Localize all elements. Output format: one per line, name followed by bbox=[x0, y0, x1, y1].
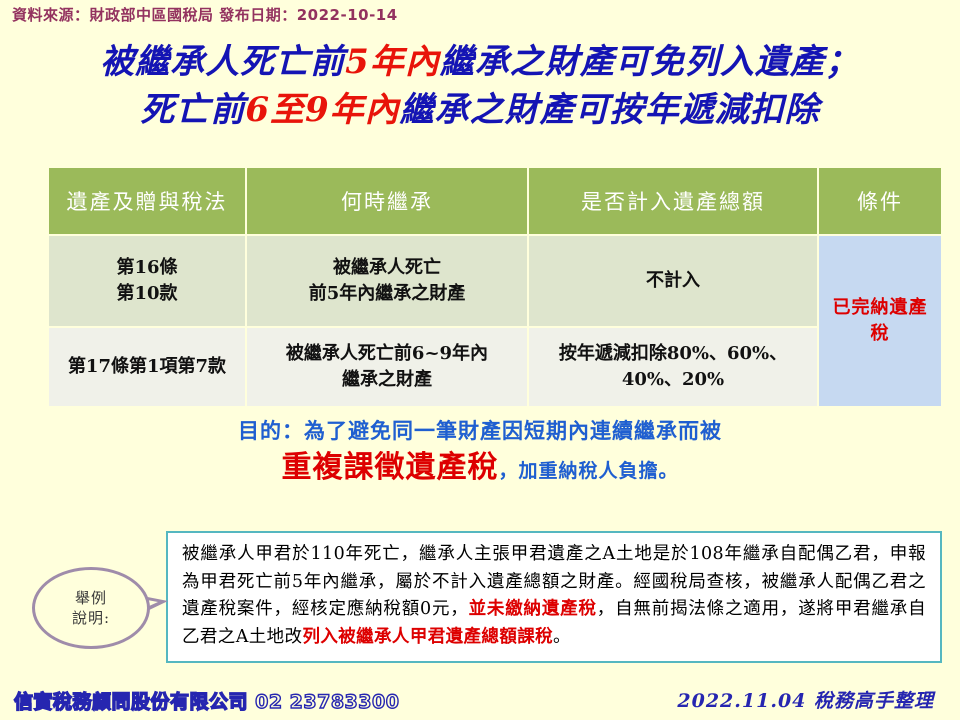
cell-when-row1: 被繼承人死亡 前5年內繼承之財產 bbox=[247, 236, 527, 326]
purpose-line-2-tail: ，加重納稅人負擔。 bbox=[498, 460, 678, 482]
inheritance-tax-table: 遺產及贈與稅法 何時繼承 是否計入遺產總額 條件 第16條 第10款 被繼承人死… bbox=[47, 166, 943, 408]
cell-law-row1-line2: 第10款 bbox=[55, 281, 239, 307]
cell-when-row2-line1: 被繼承人死亡前6~9年內 bbox=[253, 341, 521, 367]
callout-line-1: 舉例 bbox=[75, 588, 107, 608]
table-row: 第16條 第10款 被繼承人死亡 前5年內繼承之財產 不計入 已完納遺產稅 bbox=[49, 236, 941, 326]
cell-when-row1-line1: 被繼承人死亡 bbox=[253, 255, 521, 281]
table-header-when: 何時繼承 bbox=[247, 168, 527, 234]
title-line-2-post: 繼承之財產可按年遞減扣除 bbox=[400, 90, 820, 130]
example-paragraph: 被繼承人甲君於110年死亡，繼承人主張甲君遺產之A土地是於108年繼承自配偶乙君… bbox=[182, 541, 926, 652]
purpose-line-2: 重複課徵遺產稅，加重納稅人負擔。 bbox=[0, 451, 960, 484]
title-line-1: 被繼承人死亡前5年內繼承之財產可免列入遺產； bbox=[0, 38, 960, 86]
footer-date: 2022.11.04 稅務高手整理 bbox=[677, 686, 934, 713]
table-header-row: 遺產及贈與稅法 何時繼承 是否計入遺產總額 條件 bbox=[49, 168, 941, 234]
cell-include-row2: 按年遞減扣除80%、60%、 40%、20% bbox=[529, 328, 817, 406]
source-line: 資料來源：財政部中區國稅局 發布日期：2022-10-14 bbox=[12, 4, 398, 25]
cell-when-row1-line2: 前5年內繼承之財產 bbox=[253, 281, 521, 307]
title-line-1-highlight: 5年內 bbox=[345, 42, 440, 82]
footer-company: 信實稅務顧問股份有限公司 02 23783300 bbox=[14, 687, 399, 714]
table-header-include: 是否計入遺產總額 bbox=[529, 168, 817, 234]
cell-law-row2: 第17條第1項第7款 bbox=[49, 328, 245, 406]
cell-law-row1: 第16條 第10款 bbox=[49, 236, 245, 326]
cell-when-row2: 被繼承人死亡前6~9年內 繼承之財產 bbox=[247, 328, 527, 406]
title-line-2-pre: 死亡前 bbox=[140, 90, 245, 130]
page-title: 被繼承人死亡前5年內繼承之財產可免列入遺產； 死亡前6至9年內繼承之財產可按年遞… bbox=[0, 38, 960, 135]
example-seg-2-red: 並未繳納遺產稅 bbox=[469, 599, 597, 619]
title-line-2: 死亡前6至9年內繼承之財產可按年遞減扣除 bbox=[0, 86, 960, 134]
example-callout-bubble: 舉例 說明: bbox=[32, 567, 150, 649]
cell-include-row2-line1: 按年遞減扣除80%、60%、 bbox=[535, 341, 811, 367]
example-seg-4-red: 列入被繼承人甲君遺產總額課稅 bbox=[302, 627, 553, 647]
purpose-emphasis: 重複課徵遺產稅 bbox=[281, 450, 498, 485]
cell-include-row2-line2: 40%、20% bbox=[535, 367, 811, 393]
table-header-condition: 條件 bbox=[819, 168, 941, 234]
example-seg-5: 。 bbox=[553, 627, 571, 647]
callout-line-2: 說明: bbox=[72, 608, 110, 628]
title-line-1-post: 繼承之財產可免列入遺產； bbox=[440, 42, 860, 82]
table-row: 第17條第1項第7款 被繼承人死亡前6~9年內 繼承之財產 按年遞減扣除80%、… bbox=[49, 328, 941, 406]
table-header-law: 遺產及贈與稅法 bbox=[49, 168, 245, 234]
cell-law-row1-line1: 第16條 bbox=[55, 255, 239, 281]
purpose-block: 目的：為了避免同一筆財產因短期內連續繼承而被 重複課徵遺產稅，加重納稅人負擔。 bbox=[0, 415, 960, 484]
title-line-1-pre: 被繼承人死亡前 bbox=[100, 42, 345, 82]
cell-condition: 已完納遺產稅 bbox=[819, 236, 941, 406]
example-box: 被繼承人甲君於110年死亡，繼承人主張甲君遺產之A土地是於108年繼承自配偶乙君… bbox=[166, 531, 942, 663]
cell-when-row2-line2: 繼承之財產 bbox=[253, 367, 521, 393]
title-line-2-highlight: 6至9年內 bbox=[245, 90, 399, 130]
cell-include-row1: 不計入 bbox=[529, 236, 817, 326]
purpose-line-1: 目的：為了避免同一筆財產因短期內連續繼承而被 bbox=[0, 415, 960, 445]
